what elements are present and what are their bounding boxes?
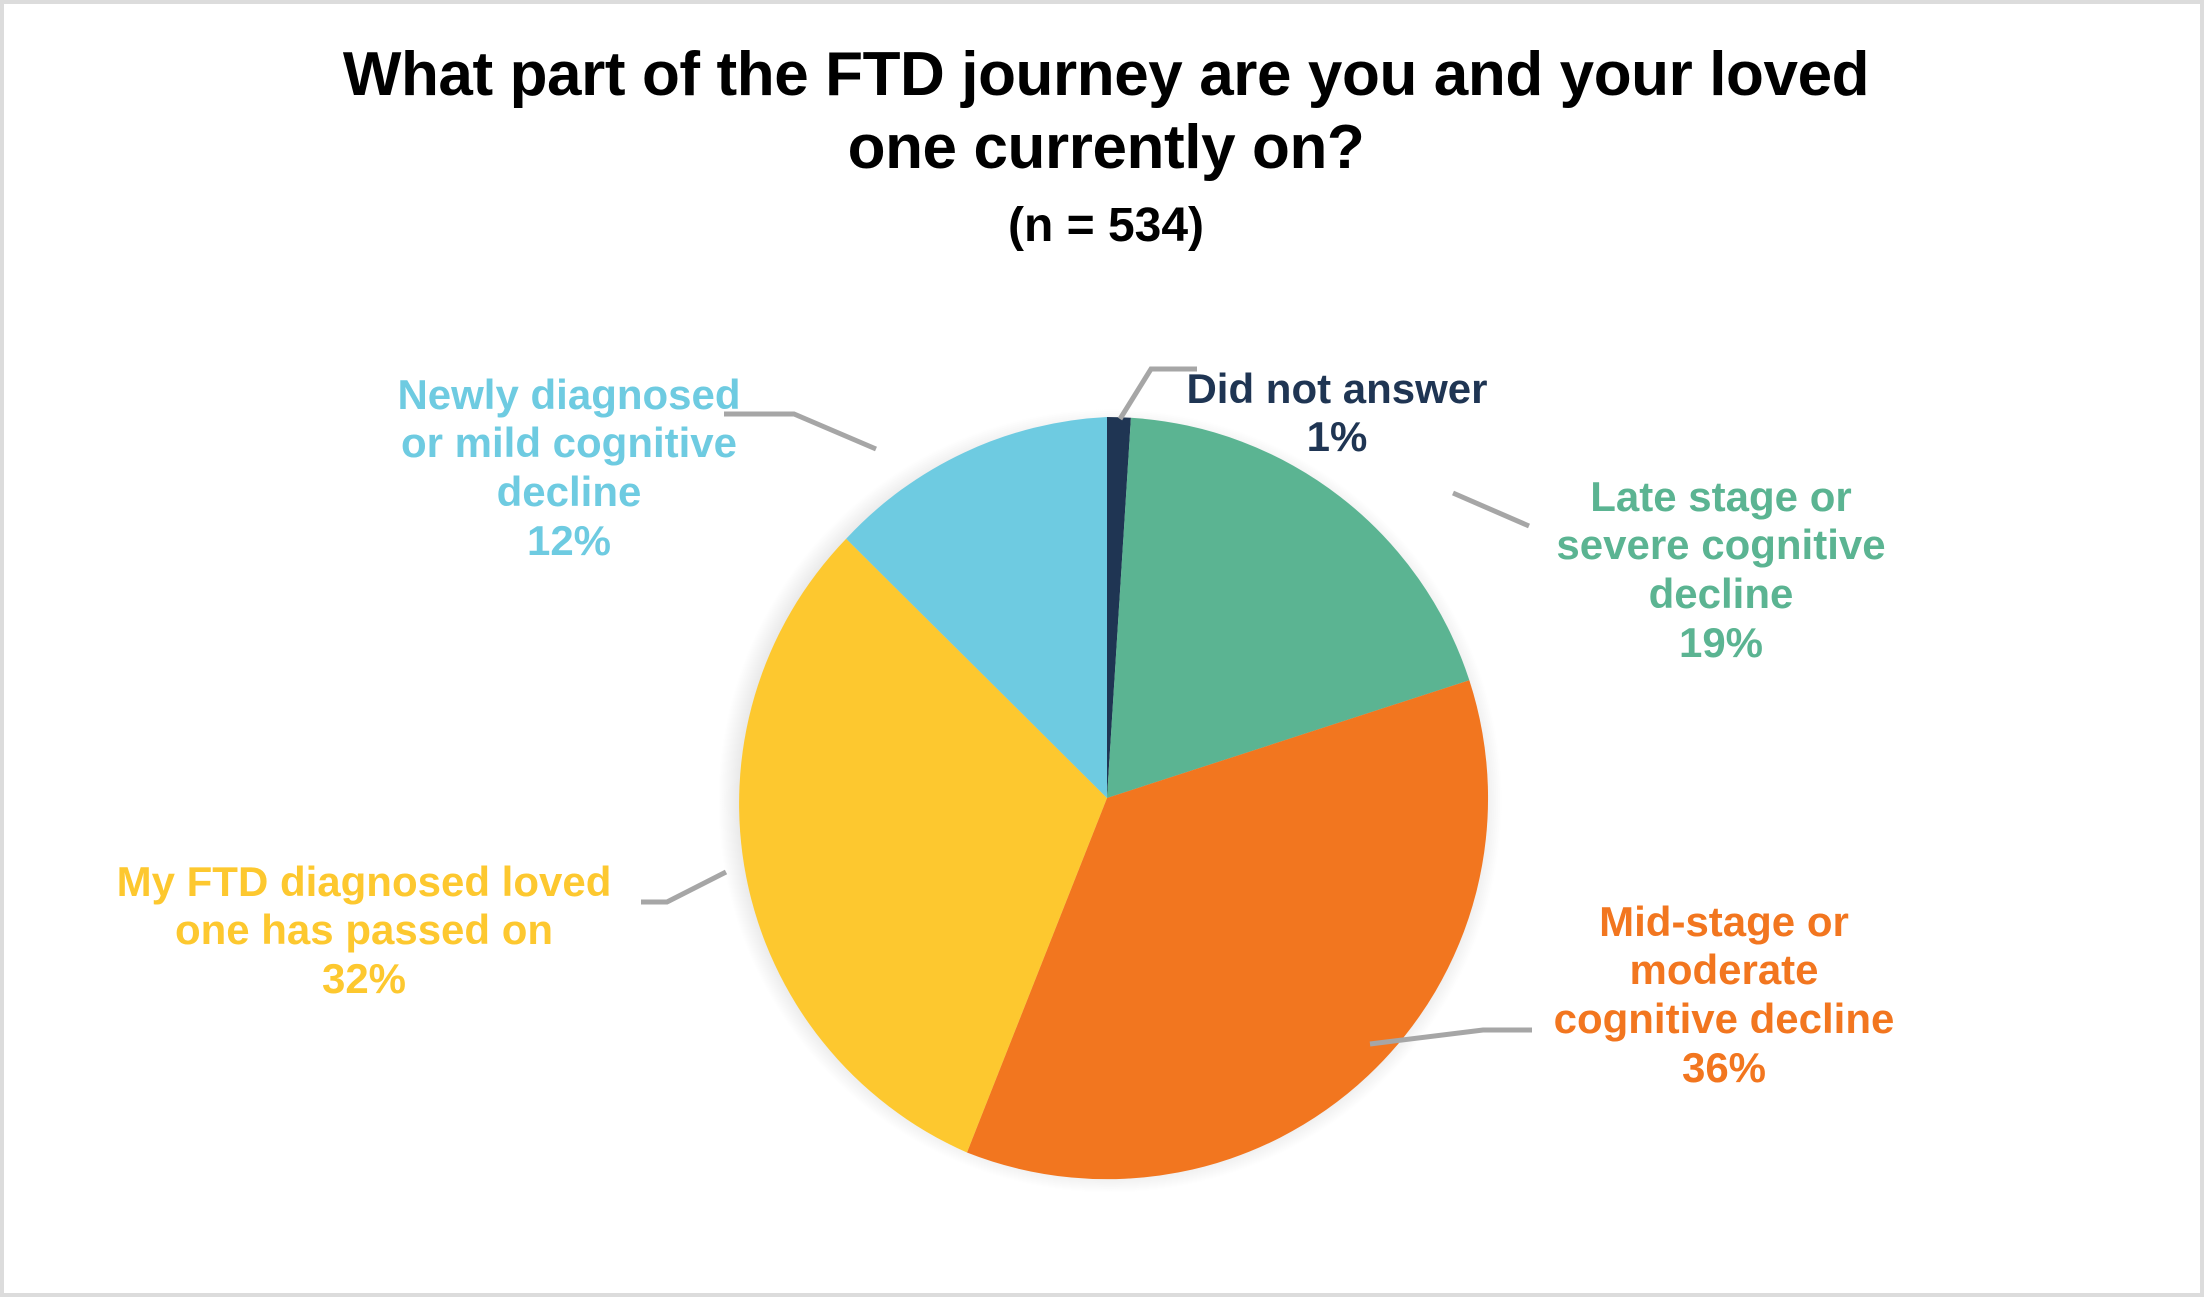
slice-label-late-stage: Late stage or severe cognitive decline 1…	[1541, 424, 1901, 716]
slice-label-late-stage-pct: 19%	[1541, 619, 1901, 668]
leader-line-mid-stage	[1370, 1030, 1532, 1044]
slice-label-mid-stage-name: Mid-stage or moderate cognitive decline	[1554, 898, 1895, 1042]
pie-slice-newly-diagnosed	[846, 417, 1107, 798]
slice-label-late-stage-name: Late stage or severe cognitive decline	[1556, 473, 1885, 617]
page-title: What part of the FTD journey are you and…	[4, 38, 2204, 184]
slice-label-newly-diagnosed: Newly diagnosed or mild cognitive declin…	[344, 322, 794, 614]
pie-slice-mid-stage	[967, 680, 1488, 1179]
slice-label-newly-diagnosed-name: Newly diagnosed or mild cognitive declin…	[397, 371, 740, 515]
slice-label-passed-on-pct: 32%	[74, 955, 654, 1004]
slice-label-newly-diagnosed-pct: 12%	[344, 517, 794, 566]
pie-slice-did-not-answer	[1107, 417, 1131, 798]
slice-label-did-not-answer-name: Did not answer	[1186, 365, 1487, 412]
chart-subtitle: (n = 534)	[4, 198, 2204, 253]
slice-label-did-not-answer-pct: 1%	[1157, 413, 1517, 462]
slice-label-mid-stage: Mid-stage or moderate cognitive decline …	[1524, 849, 1924, 1141]
slice-label-mid-stage-pct: 36%	[1524, 1044, 1924, 1093]
pie-slice-passed-on	[739, 539, 1107, 1153]
slice-label-passed-on: My FTD diagnosed loved one has passed on…	[74, 809, 654, 1053]
chart-canvas: What part of the FTD journey are you and…	[0, 0, 2204, 1297]
slice-label-did-not-answer: Did not answer 1%	[1157, 316, 1517, 511]
slice-label-passed-on-name: My FTD diagnosed loved one has passed on	[117, 858, 612, 954]
title-block: What part of the FTD journey are you and…	[4, 38, 2204, 253]
pie-shadow	[718, 409, 1502, 1193]
